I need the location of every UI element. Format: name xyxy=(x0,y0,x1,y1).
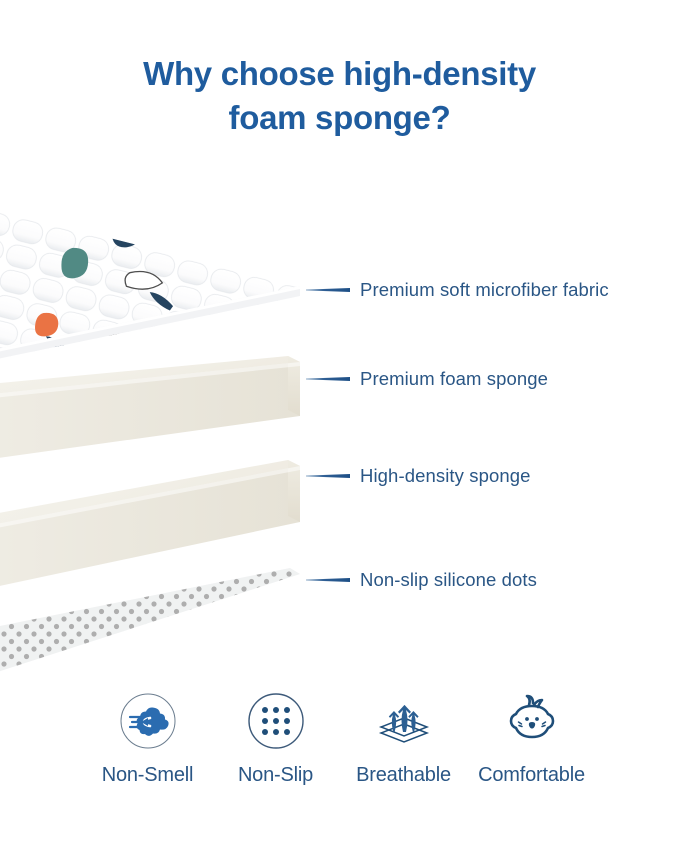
feature-label: Comfortable xyxy=(478,764,585,787)
page-title-line-1: Why choose high-density xyxy=(0,52,679,96)
dot-grid-icon xyxy=(247,692,305,750)
feature-label: Non-Smell xyxy=(102,764,194,787)
airflow-layers-icon xyxy=(375,692,433,750)
feature-breathable: Breathable xyxy=(340,692,468,787)
callout-premium-foam-sponge: Premium foam sponge xyxy=(306,367,548,391)
page-title: Why choose high-density foam sponge? xyxy=(0,52,679,140)
callout-label: Premium soft microfiber fabric xyxy=(360,279,609,301)
feature-non-slip: Non-Slip xyxy=(212,692,340,787)
callout-non-slip-silicone-dots: Non-slip silicone dots xyxy=(306,568,537,592)
callout-high-density-sponge: High-density sponge xyxy=(306,464,531,488)
baby-face-icon xyxy=(503,692,561,750)
leader-line-icon xyxy=(306,474,350,478)
leader-line-icon xyxy=(306,288,350,292)
page-title-line-2: foam sponge? xyxy=(0,96,679,140)
feature-non-smell: Non-Smell xyxy=(84,692,212,787)
quilted-fabric-layer xyxy=(0,150,340,710)
callout-label: Premium foam sponge xyxy=(360,368,548,390)
feature-row: Non-Smell Non-Slip Breathable xyxy=(0,692,679,787)
smell-waves-icon xyxy=(119,692,177,750)
mattress-layer-illustration xyxy=(0,150,340,710)
callout-label: High-density sponge xyxy=(360,465,531,487)
feature-comfortable: Comfortable xyxy=(468,692,596,787)
leader-line-icon xyxy=(306,377,350,381)
callout-premium-soft-microfiber-fabric: Premium soft microfiber fabric xyxy=(306,278,609,302)
feature-label: Non-Slip xyxy=(238,764,313,787)
callout-label: Non-slip silicone dots xyxy=(360,569,537,591)
feature-label: Breathable xyxy=(356,764,451,787)
leader-line-icon xyxy=(306,578,350,582)
